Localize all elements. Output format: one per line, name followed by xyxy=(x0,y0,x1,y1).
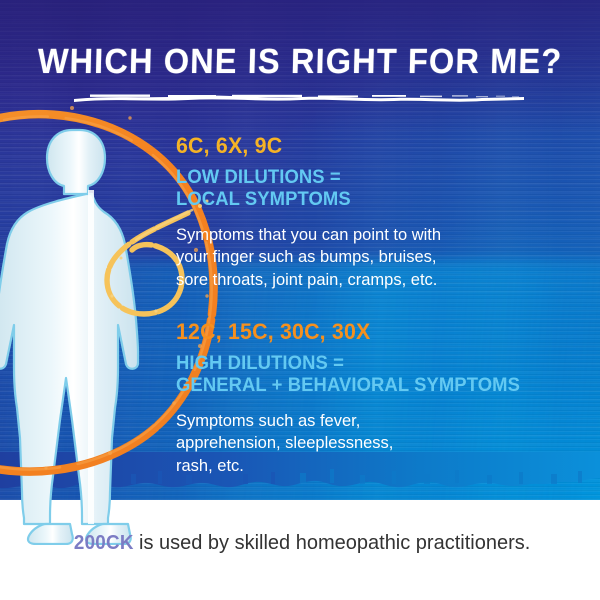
dilution-subtitle-high: HIGH DILUTIONS = GENERAL + BEHAVIORAL SY… xyxy=(176,353,574,397)
dose-label-low: 6C, 6X, 9C xyxy=(176,134,574,159)
footer-note-text: is used by skilled homeopathic practitio… xyxy=(133,532,530,554)
dilution-block-high: 12C, 15C, 30C, 30X HIGH DILUTIONS = GENE… xyxy=(176,320,586,478)
dose-label-high: 12C, 15C, 30C, 30X xyxy=(176,320,574,345)
footer-note: 200CK is used by skilled homeopathic pra… xyxy=(0,533,600,553)
page-title: WHICH ONE IS RIGHT FOR ME? xyxy=(37,44,562,79)
page-title-wrap: WHICH ONE IS RIGHT FOR ME? xyxy=(0,44,600,79)
dilution-body-high: Symptoms such as fever, apprehension, sl… xyxy=(176,410,586,478)
dilution-subtitle-low: LOW DILUTIONS = LOCAL SYMPTOMS xyxy=(176,167,574,211)
infographic-poster: WHICH ONE IS RIGHT FOR ME? 6C, 6X, 9C LO… xyxy=(0,0,600,600)
dilution-block-low: 6C, 6X, 9C LOW DILUTIONS = LOCAL SYMPTOM… xyxy=(176,134,586,292)
footer-potency-code: 200CK xyxy=(73,533,133,553)
dilution-body-low: Symptoms that you can point to with your… xyxy=(176,224,586,292)
content-column: 6C, 6X, 9C LOW DILUTIONS = LOCAL SYMPTOM… xyxy=(176,134,586,478)
title-underline-brush xyxy=(72,93,528,104)
